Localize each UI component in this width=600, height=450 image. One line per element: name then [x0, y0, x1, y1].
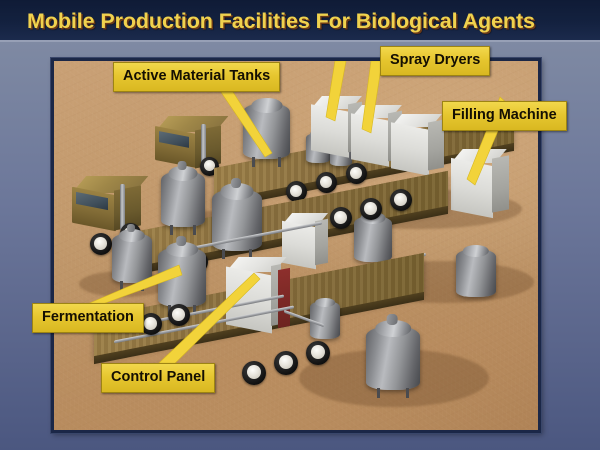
slide-root: Mobile Production Facilities For Biologi… [0, 0, 600, 450]
callout-control-panel[interactable]: Control Panel [101, 363, 215, 393]
wheel [168, 304, 190, 326]
wheel [360, 198, 382, 220]
filler-side [492, 155, 509, 212]
tank-leg [377, 388, 380, 398]
tank-leg [170, 225, 173, 235]
tank-vent [178, 161, 187, 170]
day-tank [456, 249, 496, 297]
cabinet-side [315, 219, 328, 266]
callout-active-material-tanks[interactable]: Active Material Tanks [113, 62, 280, 92]
filler-front [451, 158, 493, 218]
dryer-front [311, 104, 349, 157]
wheel [330, 207, 352, 229]
tank-leg [193, 225, 196, 235]
tank-vent [127, 224, 135, 232]
callout-fermentation[interactable]: Fermentation [32, 303, 144, 333]
tank-leg [141, 281, 144, 291]
wheel [316, 172, 337, 193]
page-title: Mobile Production Facilities For Biologi… [27, 9, 535, 34]
tank-lid [315, 298, 335, 308]
filling-machine-unit [451, 149, 521, 229]
fermentation-tank [112, 233, 152, 283]
dryer-front [391, 122, 429, 175]
tank-leg [222, 249, 225, 259]
wheel [306, 341, 330, 365]
exhaust-stack [120, 184, 125, 230]
wheel [242, 361, 266, 385]
wheel [390, 189, 412, 211]
fermentation-tank [158, 247, 206, 307]
tank-leg [406, 388, 409, 398]
wheel [274, 351, 298, 375]
tank-lid [463, 245, 489, 257]
tank-leg [278, 157, 281, 167]
active-material-tank [243, 103, 290, 159]
tank-vent [387, 314, 398, 324]
dryer-front [351, 113, 389, 166]
fermentation-tank [161, 171, 205, 227]
day-tank [354, 216, 392, 262]
tank-lid [251, 98, 282, 113]
tank-vent [176, 236, 186, 246]
tank-vent [231, 178, 241, 188]
callout-spray-dryers[interactable]: Spray Dryers [380, 46, 490, 76]
storage-tank [366, 326, 420, 390]
wheel [90, 233, 112, 255]
tank-leg [120, 281, 123, 291]
spray-dryer-unit [391, 114, 449, 180]
callout-filling-machine[interactable]: Filling Machine [442, 101, 567, 131]
wheel [346, 163, 367, 184]
tank-leg [252, 157, 255, 167]
slide-header: Mobile Production Facilities For Biologi… [0, 0, 600, 42]
